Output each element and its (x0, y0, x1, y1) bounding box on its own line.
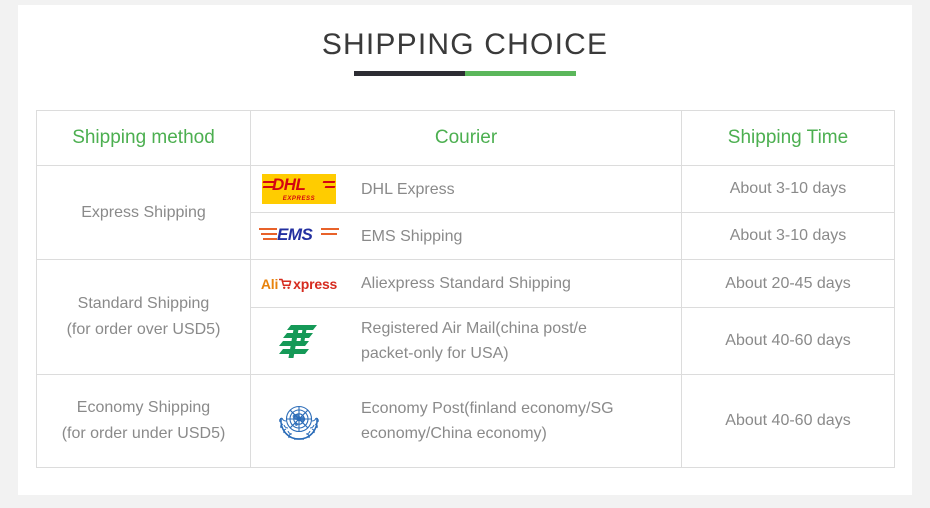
dhl-stripe-icon (323, 181, 336, 183)
time-cell: About 3-10 days (682, 166, 895, 213)
title-underline-right (465, 71, 576, 76)
shopping-cart-icon (279, 278, 292, 290)
dhl-logo: DHL EXPRESS (262, 174, 336, 204)
logo-slot: EMS (251, 222, 347, 250)
method-note: (for order under USD5) (37, 421, 250, 447)
courier-name: Economy Post(finland economy/SG economy/… (361, 396, 641, 446)
dhl-stripe-icon (325, 186, 336, 188)
method-cell-express: Express Shipping (37, 166, 251, 260)
shipping-table: Shipping method Courier Shipping Time Ex… (36, 110, 895, 468)
courier-cell-ems: EMS EMS Shipping (251, 213, 682, 260)
aliexpress-wordmark-ali: Ali (261, 276, 278, 292)
ems-stripe-icon (259, 228, 277, 230)
method-label: Standard Shipping (37, 291, 250, 317)
ems-stripe-icon (321, 233, 337, 235)
ems-stripe-icon (261, 233, 277, 235)
method-cell-standard: Standard Shipping (for order over USD5) (37, 260, 251, 375)
logo-slot (251, 396, 347, 446)
table-row: Express Shipping DHL EXPRESS (37, 166, 895, 213)
aliexpress-logo: Ali xpress (261, 276, 337, 292)
table-header-row: Shipping method Courier Shipping Time (37, 111, 895, 166)
courier-cell-aliexpress: Ali xpress (251, 260, 682, 308)
courier-cell-china-post: Registered Air Mail(china post/e packet-… (251, 308, 682, 375)
united-nations-logo (274, 396, 324, 446)
title-underline (354, 71, 576, 76)
courier-cell-dhl: DHL EXPRESS DHL Express (251, 166, 682, 213)
time-cell: About 40-60 days (682, 375, 895, 468)
time-cell: About 3-10 days (682, 213, 895, 260)
courier-name: Registered Air Mail(china post/e packet-… (361, 316, 641, 366)
column-header-method: Shipping method (37, 111, 251, 166)
courier-cell-economy-post: Economy Post(finland economy/SG economy/… (251, 375, 682, 468)
dhl-subtext: EXPRESS (262, 196, 336, 202)
ems-stripe-icon (263, 238, 277, 240)
logo-slot (251, 321, 347, 361)
logo-slot: DHL EXPRESS (251, 174, 347, 204)
china-post-logo (277, 321, 321, 361)
method-label: Express Shipping (37, 200, 250, 226)
ems-logo: EMS (259, 222, 339, 250)
time-cell: About 20-45 days (682, 260, 895, 308)
shipping-choice-card: SHIPPING CHOICE Shipping method Courier … (18, 5, 912, 495)
courier-name: EMS Shipping (361, 224, 462, 249)
page-title: SHIPPING CHOICE (18, 27, 912, 63)
column-header-courier: Courier (251, 111, 682, 166)
dhl-wordmark: DHL (272, 175, 305, 195)
title-underline-left (354, 71, 465, 76)
logo-slot: Ali xpress (251, 276, 347, 292)
aliexpress-wordmark-xpress: xpress (293, 276, 337, 292)
ems-wordmark: EMS (277, 225, 312, 245)
courier-name: DHL Express (361, 177, 455, 202)
method-cell-economy: Economy Shipping (for order under USD5) (37, 375, 251, 468)
page-title-block: SHIPPING CHOICE (18, 27, 912, 76)
column-header-time: Shipping Time (682, 111, 895, 166)
method-label: Economy Shipping (37, 395, 250, 421)
ems-stripe-icon (321, 228, 339, 230)
courier-name: Aliexpress Standard Shipping (361, 271, 571, 296)
table-row: Economy Shipping (for order under USD5) (37, 375, 895, 468)
table-row: Standard Shipping (for order over USD5) … (37, 260, 895, 308)
method-note: (for order over USD5) (37, 317, 250, 343)
time-cell: About 40-60 days (682, 308, 895, 375)
